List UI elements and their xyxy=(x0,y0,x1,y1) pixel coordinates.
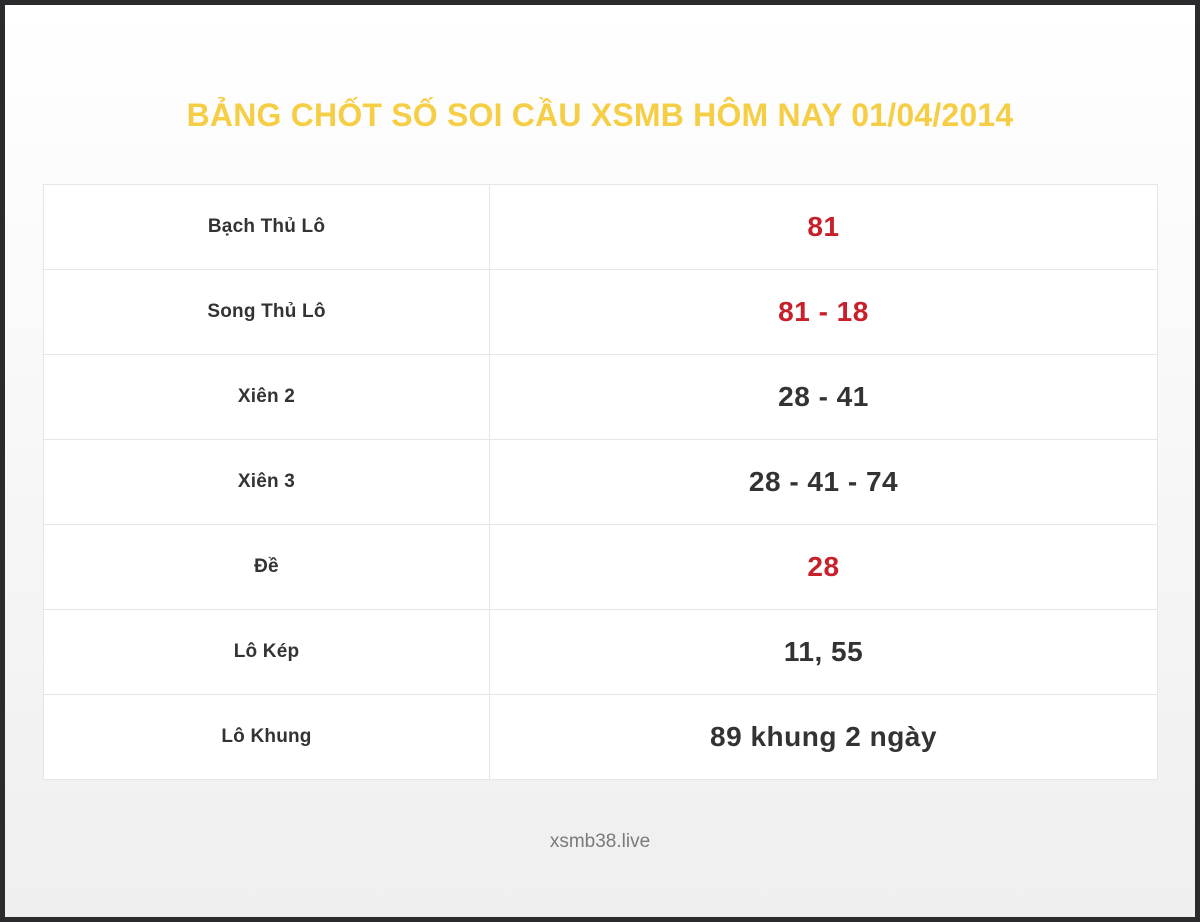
table-row: Xiên 228 - 41 xyxy=(44,355,1158,440)
table-row: Bạch Thủ Lô81 xyxy=(44,185,1158,270)
page-content: BẢNG CHỐT SỐ SOI CẦU XSMB HÔM NAY 01/04/… xyxy=(5,5,1195,917)
row-value: 28 - 41 - 74 xyxy=(490,440,1158,525)
table-row: Song Thủ Lô81 - 18 xyxy=(44,270,1158,355)
row-value: 81 xyxy=(490,185,1158,270)
row-label: Xiên 3 xyxy=(44,440,490,525)
row-label: Song Thủ Lô xyxy=(44,270,490,355)
table-body: Bạch Thủ Lô81Song Thủ Lô81 - 18Xiên 228 … xyxy=(44,185,1158,780)
row-value: 28 - 41 xyxy=(490,355,1158,440)
page-title: BẢNG CHỐT SỐ SOI CẦU XSMB HÔM NAY 01/04/… xyxy=(5,97,1195,134)
row-value: 28 xyxy=(490,525,1158,610)
row-label: Đề xyxy=(44,525,490,610)
table-row: Lô Kép11, 55 xyxy=(44,610,1158,695)
row-value: 89 khung 2 ngày xyxy=(490,695,1158,780)
row-label: Bạch Thủ Lô xyxy=(44,185,490,270)
lottery-prediction-table: Bạch Thủ Lô81Song Thủ Lô81 - 18Xiên 228 … xyxy=(43,184,1158,780)
row-label: Lô Kép xyxy=(44,610,490,695)
row-value: 81 - 18 xyxy=(490,270,1158,355)
row-value: 11, 55 xyxy=(490,610,1158,695)
table-row: Xiên 328 - 41 - 74 xyxy=(44,440,1158,525)
site-watermark: xsmb38.live xyxy=(5,831,1195,853)
table-row: Đề28 xyxy=(44,525,1158,610)
row-label: Xiên 2 xyxy=(44,355,490,440)
page-frame: BẢNG CHỐT SỐ SOI CẦU XSMB HÔM NAY 01/04/… xyxy=(0,0,1200,922)
row-label: Lô Khung xyxy=(44,695,490,780)
table-row: Lô Khung89 khung 2 ngày xyxy=(44,695,1158,780)
